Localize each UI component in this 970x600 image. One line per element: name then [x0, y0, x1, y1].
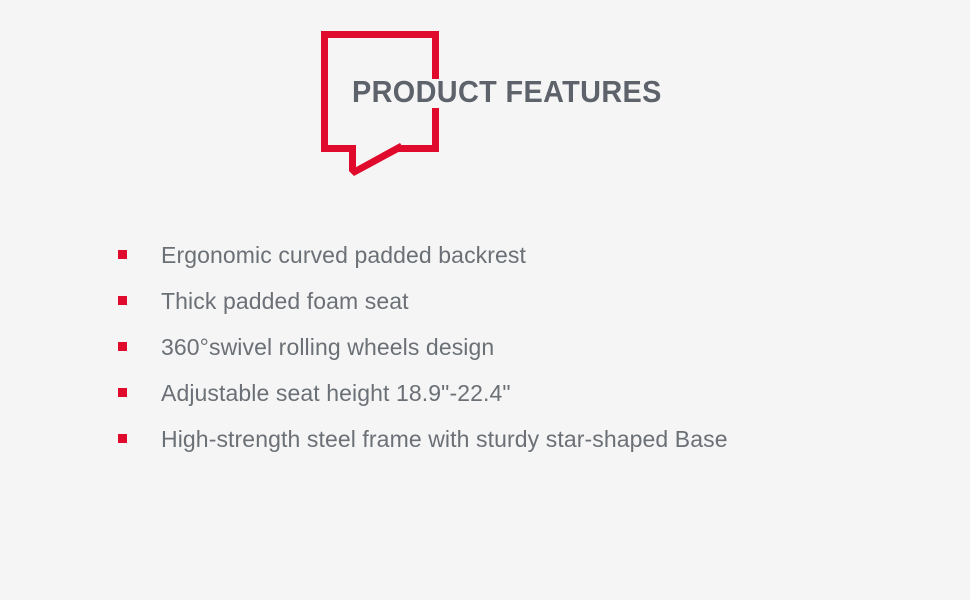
bullet-square-icon [118, 434, 127, 443]
bullet-square-icon [118, 250, 127, 259]
list-item: Thick padded foam seat [0, 278, 970, 324]
list-item: Adjustable seat height 18.9"-22.4" [0, 370, 970, 416]
bullet-square-icon [118, 296, 127, 305]
feature-label: Adjustable seat height 18.9"-22.4" [161, 370, 511, 416]
header-badge: PRODUCT FEATURES [0, 0, 970, 200]
bullet-square-icon [118, 388, 127, 397]
feature-label: Ergonomic curved padded backrest [161, 232, 526, 278]
list-item: High-strength steel frame with sturdy st… [0, 416, 970, 462]
list-item: 360°swivel rolling wheels design [0, 324, 970, 370]
feature-list: Ergonomic curved padded backrest Thick p… [0, 232, 970, 462]
feature-label: Thick padded foam seat [161, 278, 409, 324]
feature-label: 360°swivel rolling wheels design [161, 324, 494, 370]
page-title: PRODUCT FEATURES [352, 74, 662, 110]
bullet-square-icon [118, 342, 127, 351]
product-features-slide: PRODUCT FEATURES Ergonomic curved padded… [0, 0, 970, 600]
list-item: Ergonomic curved padded backrest [0, 232, 970, 278]
feature-label: High-strength steel frame with sturdy st… [161, 416, 728, 462]
